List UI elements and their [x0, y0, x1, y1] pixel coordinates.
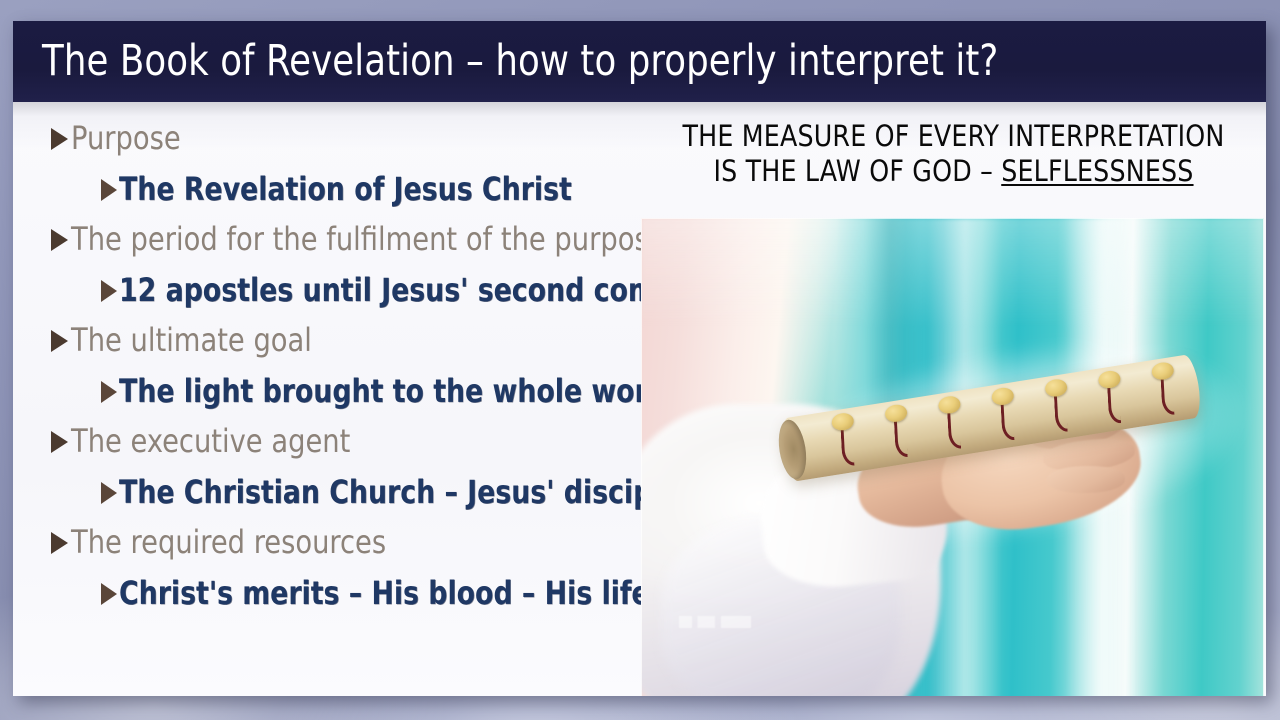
triangle-right-bullet-icon	[101, 583, 117, 605]
list-item-label: The Christian Church – Jesus' disciples	[119, 469, 696, 515]
list-item-label: Purpose	[71, 116, 181, 160]
slide-body: Purpose The Revelation of Jesus Christ T…	[13, 102, 1266, 696]
right-panel-heading: THE MEASURE OF EVERY INTERPRETATION IS T…	[641, 119, 1266, 189]
bullet-list: Purpose The Revelation of Jesus Christ T…	[39, 116, 649, 621]
list-item: The Christian Church – Jesus' disciples	[101, 469, 649, 520]
heading-underlined-word: SELFLESSNESS	[1001, 154, 1193, 188]
triangle-right-bullet-icon	[101, 179, 117, 201]
list-item: The required resources	[51, 520, 649, 570]
list-item-label: The period for the fulfilment of the pur…	[71, 217, 666, 261]
list-item-label: Christ's merits – His blood – His life	[119, 570, 650, 616]
list-item: The Revelation of Jesus Christ	[101, 166, 649, 217]
list-item: The ultimate goal	[51, 318, 649, 368]
triangle-right-bullet-icon	[101, 482, 117, 504]
presentation-slide: The Book of Revelation – how to properly…	[13, 21, 1266, 696]
triangle-right-bullet-icon	[51, 532, 68, 554]
list-item-label: The ultimate goal	[71, 318, 312, 362]
heading-line-1: THE MEASURE OF EVERY INTERPRETATION	[650, 119, 1256, 154]
list-item-label: The required resources	[71, 520, 386, 564]
list-item-label: 12 apostles until Jesus' second coming	[119, 267, 703, 313]
triangle-right-bullet-icon	[51, 431, 68, 453]
triangle-right-bullet-icon	[101, 280, 117, 302]
list-item: The executive agent	[51, 419, 649, 469]
heading-line-2-prefix: IS THE LAW OF GOD –	[713, 154, 1001, 188]
heading-line-2: IS THE LAW OF GOD – SELFLESSNESS	[650, 154, 1256, 189]
triangle-right-bullet-icon	[51, 330, 68, 352]
list-item: The period for the fulfilment of the pur…	[51, 217, 649, 267]
slide-title-bar: The Book of Revelation – how to properly…	[13, 21, 1266, 102]
page-title: The Book of Revelation – how to properly…	[42, 29, 998, 93]
list-item: Purpose	[51, 116, 649, 166]
list-item-label: The Revelation of Jesus Christ	[119, 166, 572, 212]
triangle-right-bullet-icon	[51, 229, 68, 251]
list-item: 12 apostles until Jesus' second coming	[101, 267, 649, 318]
list-item: Christ's merits – His blood – His life	[101, 570, 649, 621]
artist-signature	[679, 616, 751, 628]
list-item-label: The light brought to the whole world	[119, 368, 676, 414]
scroll-illustration	[641, 218, 1264, 696]
triangle-right-bullet-icon	[101, 381, 117, 403]
triangle-right-bullet-icon	[51, 128, 68, 150]
list-item-label: The executive agent	[71, 419, 350, 463]
list-item: The light brought to the whole world	[101, 368, 649, 419]
